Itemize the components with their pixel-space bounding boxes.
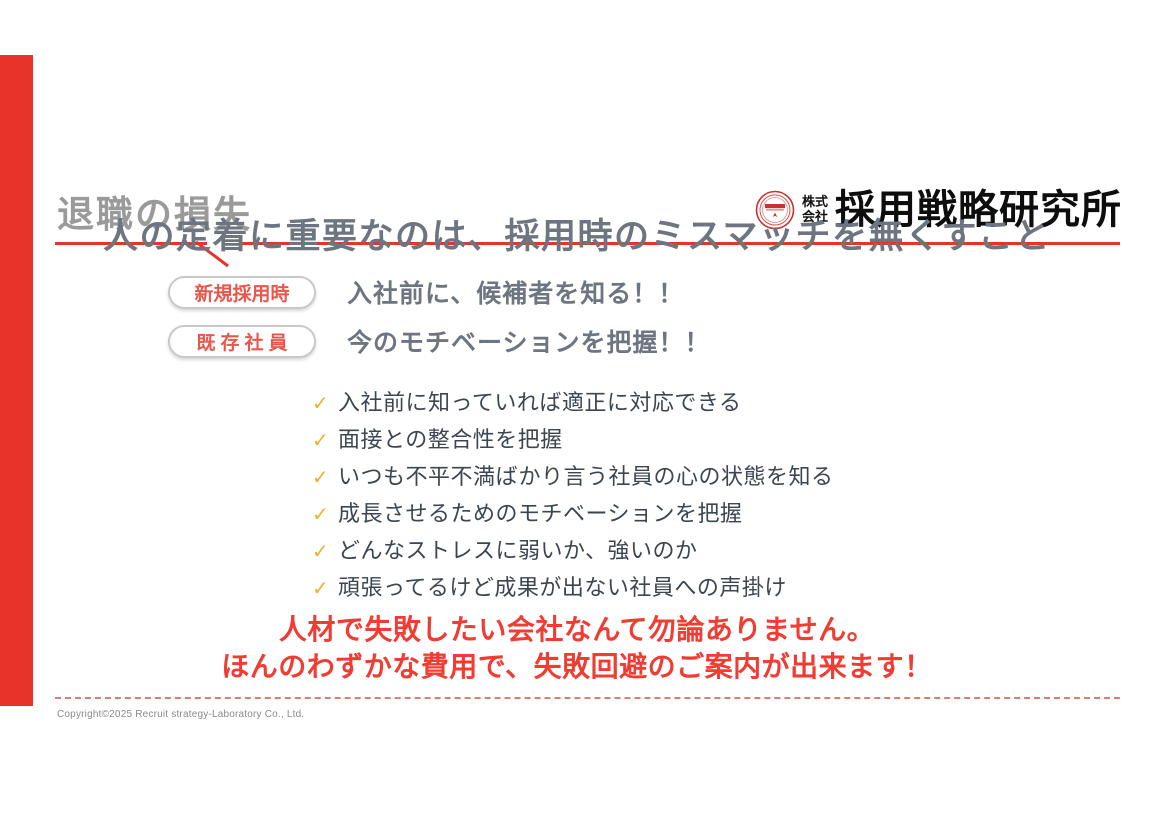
slide-header: 退職の損失 株式 会社 採用戦略研究所 [0,90,1154,180]
list-item-label: いつも不平不満ばかり言う社員の心の状態を知る [338,459,833,491]
badge-row-group: 新規採用時 入社前に、候補者を知る！！ 既存社員 今のモチベーションを把握！！ [168,270,711,368]
list-item-label: どんなストレスに弱いか、強いのか [338,533,698,565]
list-item: ✓ 入社前に知っていれば適正に対応できる [312,385,833,422]
footer-divider [55,697,1120,699]
check-icon: ✓ [312,505,338,525]
check-icon: ✓ [312,468,338,488]
list-item: ✓ どんなストレスに弱いか、強いのか [312,533,833,570]
check-icon: ✓ [312,579,338,599]
emphasis-line-1: 人材で失敗したい会社なんて勿論ありません。 [0,612,1154,649]
list-item: ✓ いつも不平不満ばかり言う社員の心の状態を知る [312,459,833,496]
emphasis-block: 人材で失敗したい会社なんて勿論ありません。 ほんのわずかな費用で、失敗回避のご案… [0,612,1154,686]
list-item: ✓ 面接との整合性を把握 [312,422,833,459]
checklist: ✓ 入社前に知っていれば適正に対応できる ✓ 面接との整合性を把握 ✓ いつも不… [312,385,833,607]
list-item-label: 成長させるためのモチベーションを把握 [338,496,743,528]
check-icon: ✓ [312,431,338,451]
list-item-label: 入社前に知っていれば適正に対応できる [338,385,741,417]
list-item-label: 面接との整合性を把握 [338,422,563,454]
badge-existing-staff: 既存社員 [168,325,316,358]
list-item-label: 頑張ってるけど成果が出ない社員への声掛け [338,570,787,602]
check-icon: ✓ [312,542,338,562]
badge-new-hire-text: 入社前に、候補者を知る！！ [347,274,684,310]
badge-new-hire: 新規採用時 [168,276,316,309]
list-item: ✓ 頑張ってるけど成果が出ない社員への声掛け [312,570,833,607]
check-icon: ✓ [312,394,338,414]
slide-canvas: 退職の損失 株式 会社 採用戦略研究所 人の定着に重要なのは、採用時のミスマッチ… [0,0,1154,816]
badge-row: 既存社員 今のモチベーションを把握！！ [168,319,711,363]
copyright-text: Copyright©2025 Recruit strategy-Laborato… [57,709,304,720]
main-headline: 人の定着に重要なのは、採用時のミスマッチを無くすこと [0,208,1154,259]
list-item: ✓ 成長させるためのモチベーションを把握 [312,496,833,533]
badge-existing-staff-text: 今のモチベーションを把握！！ [347,323,711,359]
emphasis-line-2: ほんのわずかな費用で、失敗回避のご案内が出来ます！ [0,649,1154,686]
badge-row: 新規採用時 入社前に、候補者を知る！！ [168,270,711,314]
